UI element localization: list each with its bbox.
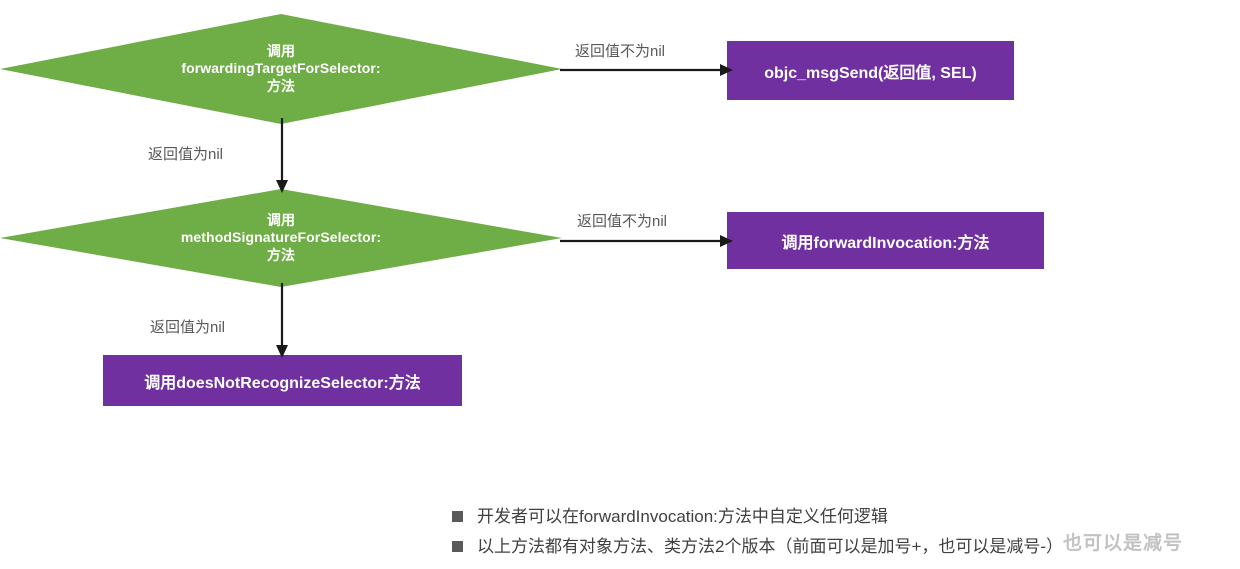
decision-node-method-signature[interactable]: 调用 methodSignatureForSelector: 方法: [0, 189, 562, 287]
process-node-forward-invocation[interactable]: 调用forwardInvocation:方法: [727, 212, 1044, 269]
edge-label-forwarding-target-nil: 返回值为nil: [148, 143, 223, 164]
notes-item-text: 以上方法都有对象方法、类方法2个版本（前面可以是加号+，也可以是减号-）: [477, 532, 1063, 562]
bullet-square-icon: [452, 541, 463, 552]
process-node-does-not-recognize[interactable]: 调用doesNotRecognizeSelector:方法: [103, 355, 462, 406]
process-node-objc-msgsend[interactable]: objc_msgSend(返回值, SEL): [727, 41, 1014, 100]
arrowhead-icon: [720, 235, 733, 247]
diamond-shape-icon: [0, 189, 562, 287]
edge-label-method-signature-nil: 返回值为nil: [150, 316, 225, 337]
arrowhead-icon: [720, 64, 733, 76]
notes-item-text: 开发者可以在forwardInvocation:方法中自定义任何逻辑: [477, 502, 888, 532]
arrowhead-icon: [276, 345, 288, 358]
bullet-square-icon: [452, 511, 463, 522]
connector-method-signature-to-does-not-recognize: [272, 283, 292, 359]
process-node-does-not-recognize-label: 调用doesNotRecognizeSelector:方法: [144, 369, 421, 393]
arrowhead-icon: [276, 180, 288, 193]
process-node-objc-msgsend-label: objc_msgSend(返回值, SEL): [764, 59, 976, 83]
notes-list: 开发者可以在forwardInvocation:方法中自定义任何逻辑 以上方法都…: [452, 502, 1063, 562]
watermark-overlay: 也可以是减号: [1063, 528, 1183, 555]
edge-label-forwarding-target-not-nil: 返回值不为nil: [575, 40, 665, 61]
diamond-shape-icon: [0, 14, 562, 124]
list-item: 以上方法都有对象方法、类方法2个版本（前面可以是加号+，也可以是减号-）: [452, 532, 1063, 562]
process-node-forward-invocation-label: 调用forwardInvocation:方法: [781, 229, 989, 253]
connector-forwarding-target-to-method-signature: [272, 118, 292, 194]
connector-forwarding-target-to-msgsend: [560, 60, 735, 80]
list-item: 开发者可以在forwardInvocation:方法中自定义任何逻辑: [452, 502, 1063, 532]
decision-node-forwarding-target[interactable]: 调用 forwardingTargetForSelector: 方法: [0, 14, 562, 124]
connector-method-signature-to-forward-invocation: [560, 231, 735, 251]
edge-label-method-signature-not-nil: 返回值不为nil: [577, 210, 667, 231]
diagram-canvas: 调用 forwardingTargetForSelector: 方法 调用 me…: [0, 0, 1240, 569]
